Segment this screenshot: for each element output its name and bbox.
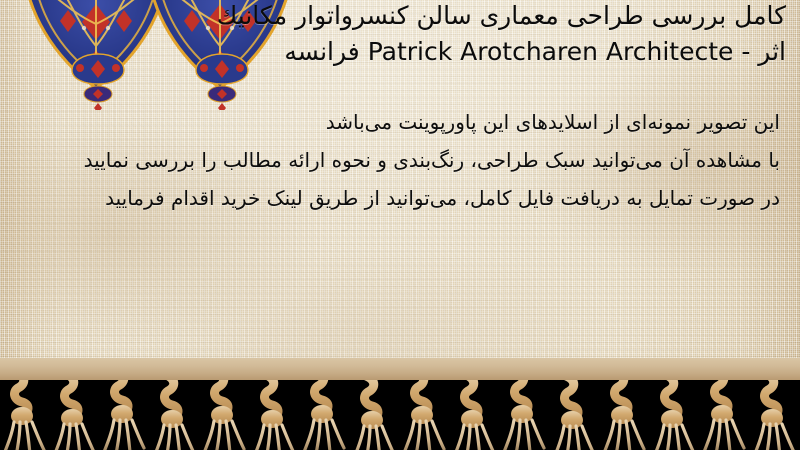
body-line-1: این تصویر نمونه‌ای از اسلایدهای این پاور… bbox=[40, 112, 780, 132]
title-line-1: کامل بررسی طراحی معماری سالن کنسرواتوار … bbox=[126, 2, 786, 31]
slide-canvas: کامل بررسی طراحی معماری سالن کنسرواتوار … bbox=[0, 0, 800, 450]
body-line-2: با مشاهده آن می‌توانید سبک طراحی، رنگ‌بن… bbox=[40, 150, 780, 170]
fringe-knot bbox=[4, 370, 794, 450]
carpet-selvage-edge bbox=[0, 358, 800, 380]
title-line-2: اثر - Patrick Arotcharen Architecte فران… bbox=[126, 31, 786, 65]
carpet-fringe bbox=[0, 358, 800, 450]
body-line-3: در صورت تمایل به دریافت فایل کامل، می‌تو… bbox=[40, 188, 780, 208]
slide-title: کامل بررسی طراحی معماری سالن کنسرواتوار … bbox=[126, 2, 786, 65]
slide-body-text: این تصویر نمونه‌ای از اسلایدهای این پاور… bbox=[40, 112, 780, 224]
